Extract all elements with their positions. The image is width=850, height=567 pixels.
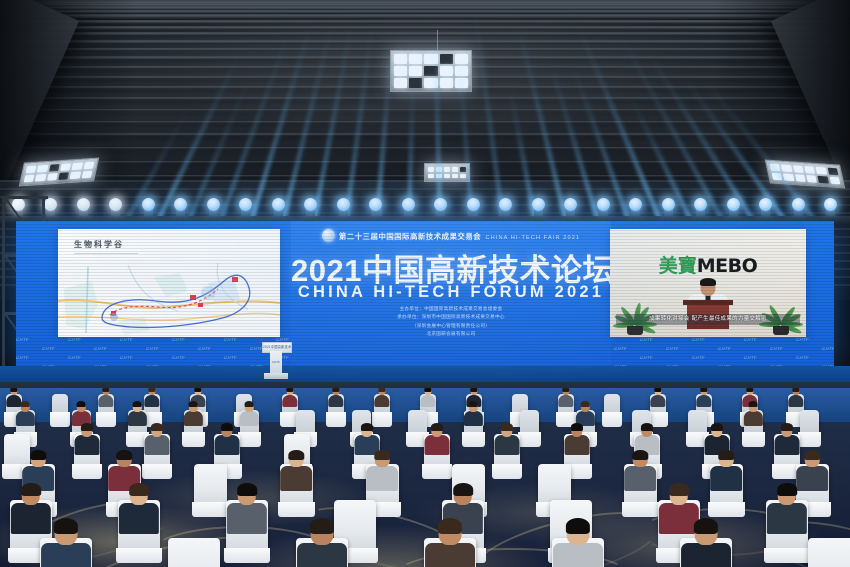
video-caption-bar: 成果转化对接会 配产生最佳成果的力量交解密 [616, 314, 800, 325]
audience-chair [52, 394, 68, 414]
audience-member [374, 388, 389, 407]
audience-member [788, 388, 803, 407]
palm-plant-right [760, 291, 802, 335]
audience-member [425, 424, 450, 454]
audience-member [240, 402, 258, 425]
organizer-line-3: 北京国研会展有限公司 [291, 330, 611, 338]
audience-torso [650, 395, 665, 407]
audience-member [227, 484, 267, 532]
led-pattern-token: CHTF [822, 346, 834, 351]
audience-member [495, 424, 520, 454]
led-pattern-token: CHTF [640, 355, 653, 360]
audience-hair [641, 423, 653, 431]
led-pattern-token: CHTF [16, 337, 29, 342]
audience-hair [694, 518, 718, 534]
audience-member [553, 519, 603, 567]
audience-chair [168, 538, 220, 567]
forum-title-en: CHINA HI-TECH FORUM 2021 [291, 283, 611, 302]
audience-torso [565, 435, 590, 455]
audience-torso [681, 543, 731, 567]
audience-member [281, 451, 313, 489]
audience-chair [538, 464, 571, 504]
led-pattern-token: CHTF [172, 355, 185, 360]
audience-member [328, 388, 343, 407]
audience-hair [719, 450, 734, 460]
audience-hair [749, 401, 758, 407]
organizer-line-1: 承办单位：深圳市中国国际高新技术成果交易中心 [291, 313, 611, 321]
audience-torso [119, 503, 159, 534]
audience-hall [0, 388, 850, 567]
audience-member [681, 519, 731, 567]
audience-member [625, 451, 657, 489]
audience-member [767, 484, 807, 532]
audience-torso [145, 435, 170, 455]
mebo-brand-en: MEBO [697, 255, 758, 277]
audience-hair [424, 388, 431, 392]
audience-member [711, 451, 743, 489]
audience-hair [469, 401, 478, 407]
audience-member [119, 484, 159, 532]
audience-hair [289, 450, 304, 460]
organizer-line-0: 主办单位：中国国际高新技术成果交易会组委会 [291, 305, 611, 313]
audience-hair [378, 388, 385, 392]
audience-torso [297, 543, 347, 567]
led-pattern-token: CHTF [718, 346, 731, 351]
audience-hair [21, 483, 41, 496]
audience-member [775, 424, 800, 454]
mebo-brand-cn: 美寶 [659, 256, 697, 277]
audience-member [420, 388, 435, 407]
audience-hair [566, 518, 590, 534]
audience-hair [221, 423, 233, 431]
audience-hair [777, 483, 797, 496]
audience-hair [189, 401, 198, 407]
fair-logo-lockup: 第二十三届中国国际高新技术成果交易会 CHINA HI-TECH FAIR 20… [291, 227, 611, 244]
audience-member [565, 424, 590, 454]
audience-hair [470, 388, 477, 392]
audience-hair [117, 450, 132, 460]
audience-torso [374, 395, 389, 407]
audience-torso [420, 395, 435, 407]
audience-torso [282, 395, 297, 407]
dais-table-segment [827, 388, 850, 422]
audience-hair [746, 388, 753, 392]
audience-hair [54, 518, 78, 534]
audience-torso [16, 411, 34, 426]
audience-hair [792, 388, 799, 392]
led-pattern-token: CHTF [666, 346, 679, 351]
audience-torso [41, 543, 91, 567]
audience-member [355, 424, 380, 454]
audience-member [215, 424, 240, 454]
led-pattern-token: CHTF [692, 355, 705, 360]
audience-torso [328, 395, 343, 407]
audience-hair [571, 423, 583, 431]
audience-member [282, 388, 297, 407]
led-pattern-token: CHTF [68, 337, 81, 342]
led-pattern-token: CHTF [224, 337, 237, 342]
audience-hair [375, 450, 390, 460]
fair-name-en: CHINA HI-TECH FAIR 2021 [486, 235, 581, 241]
lectern-body-label: CHTF [270, 351, 282, 373]
audience-hair [453, 483, 473, 496]
audience-torso [553, 543, 603, 567]
audience-hair [805, 450, 820, 460]
plant-pot-right [773, 326, 789, 335]
led-pattern-token: CHTF [172, 337, 185, 342]
audience-member [297, 519, 347, 567]
audience-hair [129, 483, 149, 496]
audience-hair [237, 483, 257, 496]
audience-hair [21, 401, 30, 407]
audience-hair [194, 388, 201, 392]
audience-member [464, 402, 482, 425]
audience-hair [102, 388, 109, 392]
china-hi-tech-fair-emblem-icon [322, 229, 335, 242]
audience-member [75, 424, 100, 454]
led-pattern-token: CHTF [120, 337, 133, 342]
audience-torso [367, 466, 399, 491]
audience-hair [286, 388, 293, 392]
audience-hair [438, 518, 462, 534]
audience-torso [464, 411, 482, 426]
led-pattern-token: CHTF [42, 346, 55, 351]
audience-member [98, 388, 113, 407]
audience-hair [669, 483, 689, 496]
audience-chair [520, 410, 539, 434]
audience-chair [296, 410, 315, 434]
audience-member [367, 451, 399, 489]
led-pattern-token: CHTF [744, 337, 757, 342]
audience-hair [431, 423, 443, 431]
stage-lectern: 2021中国高新技术论坛 CHTF [262, 342, 290, 386]
led-pattern-token: CHTF [796, 355, 809, 360]
audience-hair [81, 423, 93, 431]
led-pattern-token: CHTF [146, 346, 159, 351]
led-pattern-token: CHTF [68, 355, 81, 360]
audience-torso [425, 435, 450, 455]
main-led-wall: CHTFCHTFCHTFCHTFCHTFCHTFCHTFCHTFCHTFCHTF… [16, 221, 834, 369]
audience-member [72, 402, 90, 425]
audience-torso [696, 395, 711, 407]
audience-chair [194, 464, 227, 504]
audience-member [558, 388, 573, 407]
led-pattern-token: CHTF [614, 346, 627, 351]
audience-chair [800, 410, 819, 434]
audience-hair [711, 423, 723, 431]
led-pattern-token: CHTF [224, 355, 237, 360]
audience-torso [227, 503, 267, 534]
audience-torso [98, 395, 113, 407]
mebo-brand-logo: 美寶MEBO [610, 251, 806, 278]
led-pattern-token: CHTF [770, 346, 783, 351]
audience-hair [77, 401, 86, 407]
fair-name-cn: 第二十三届中国国际高新技术成果交易会 [339, 232, 481, 241]
center-title-panel: 第二十三届中国国际高新技术成果交易会 CHINA HI-TECH FAIR 20… [291, 221, 611, 369]
slide-title-rule [74, 253, 138, 254]
slide-map-graphic [58, 259, 280, 337]
audience-torso [281, 466, 313, 491]
audience-hair [361, 423, 373, 431]
led-pattern-token: CHTF [198, 346, 211, 351]
audience-hair [633, 450, 648, 460]
audience-torso [625, 466, 657, 491]
audience-torso [240, 411, 258, 426]
audience-torso [788, 395, 803, 407]
plant-pot-left [627, 326, 643, 335]
audience-member [650, 388, 665, 407]
audience-hair [700, 388, 707, 392]
audience-chair [604, 394, 620, 414]
audience-hair [10, 388, 17, 392]
led-pattern-token: CHTF [16, 355, 29, 360]
led-pattern-token: CHTF [796, 337, 809, 342]
audience-hair [310, 518, 334, 534]
audience-member [184, 402, 202, 425]
led-pattern-token: CHTF [744, 355, 757, 360]
audience-member [425, 519, 475, 567]
audience-hair [31, 450, 46, 460]
palm-plant-left [614, 291, 656, 335]
audience-hair [148, 388, 155, 392]
audience-member [576, 402, 594, 425]
slide-title: 生物科学谷 [74, 239, 124, 250]
left-presentation-screen: 生物科学谷 [58, 229, 280, 337]
audience-torso [425, 543, 475, 567]
audience-hair [245, 401, 254, 407]
audience-member [128, 402, 146, 425]
led-pattern-token: CHTF [94, 346, 107, 351]
audience-hair [562, 388, 569, 392]
audience-chair [808, 538, 850, 567]
audience-member [696, 388, 711, 407]
audience-hair [151, 423, 163, 431]
conference-photo: CHTFCHTFCHTFCHTFCHTFCHTFCHTFCHTFCHTFCHTF… [0, 0, 850, 567]
audience-member [744, 402, 762, 425]
audience-member [16, 402, 34, 425]
audience-member [144, 388, 159, 407]
audience-hair [133, 401, 142, 407]
audience-torso [744, 411, 762, 426]
led-pattern-token: CHTF [692, 337, 705, 342]
audience-torso [75, 435, 100, 455]
audience-member [145, 424, 170, 454]
audience-hair [501, 423, 513, 431]
audience-torso [767, 503, 807, 534]
organizer-credit-lines: 主办单位：中国国际高新技术成果交易会组委会承办单位：深圳市中国国际高新技术成果交… [291, 305, 611, 339]
audience-hair [332, 388, 339, 392]
audience-torso [711, 466, 743, 491]
audience-torso [184, 411, 202, 426]
led-pattern-token: CHTF [250, 346, 263, 351]
audience-hair [781, 423, 793, 431]
led-pattern-token: CHTF [640, 337, 653, 342]
organizer-line-2: （深圳会展中心管理有限责任公司） [291, 322, 611, 330]
right-video-screen: 美寶MEBO [610, 229, 806, 337]
audience-hair [654, 388, 661, 392]
audience-torso [495, 435, 520, 455]
audience-hair [581, 401, 590, 407]
map-svg [58, 259, 280, 337]
audience-torso [558, 395, 573, 407]
video-caption-text: 成果转化对接会 配产生最佳成果的力量交解密 [616, 314, 800, 325]
led-pattern-token: CHTF [120, 355, 133, 360]
audience-torso [215, 435, 240, 455]
audience-member [41, 519, 91, 567]
